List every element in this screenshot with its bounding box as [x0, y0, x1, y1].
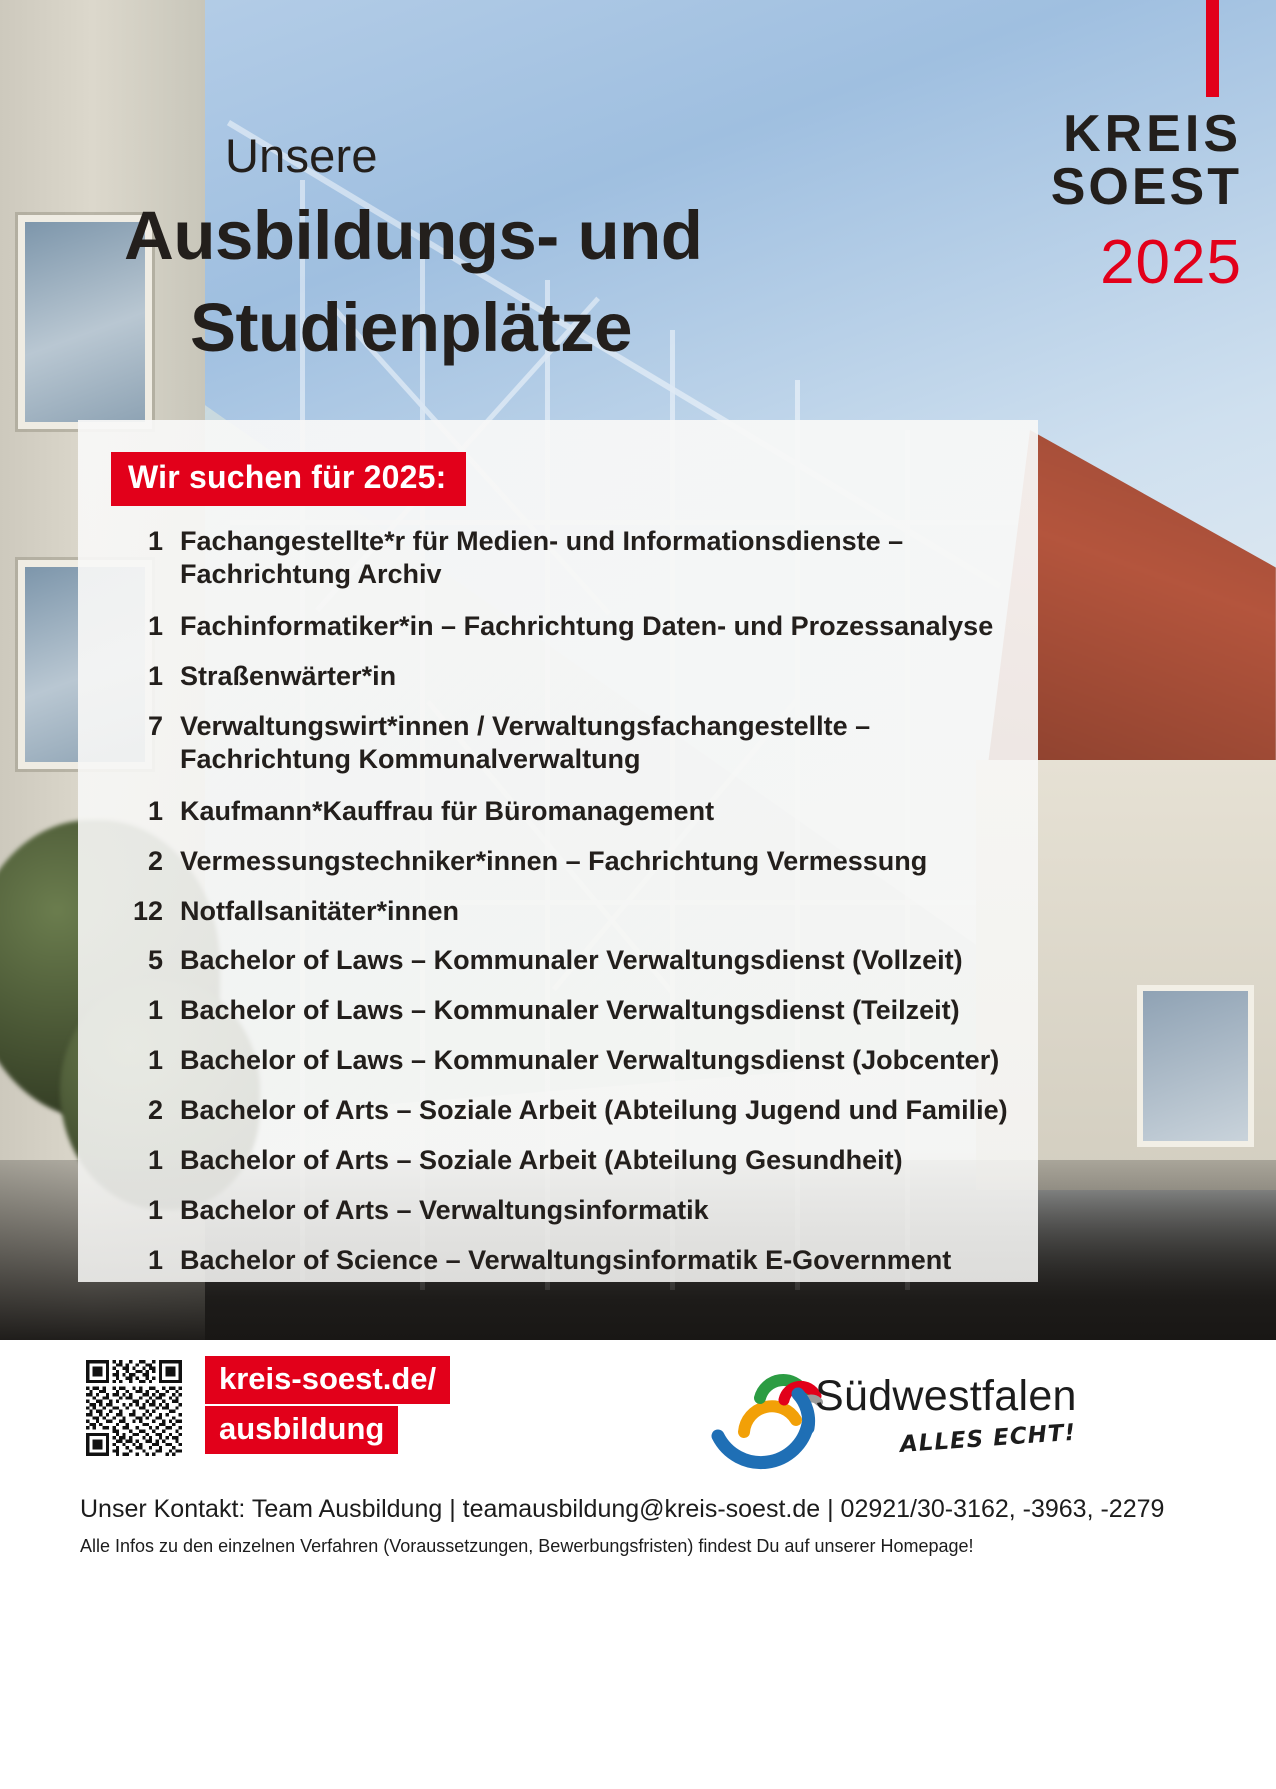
vacancy-title: Fachangestellte*r für Medien- und Inform… [180, 525, 1014, 591]
logo-line1: KREIS [1012, 110, 1242, 160]
vacancy-count: 2 [111, 845, 180, 878]
vacancy-count: 12 [111, 895, 180, 928]
vacancy-title: Bachelor of Science – Verwaltungsinforma… [180, 1244, 951, 1277]
vacancy-title: Kaufmann*Kauffrau für Büromanagement [180, 795, 714, 828]
vacancy-count: 1 [111, 1044, 180, 1077]
vacancy-title: Bachelor of Laws – Kommunaler Verwaltung… [180, 944, 963, 977]
header-kicker: Unsere [225, 128, 378, 183]
vacancy-title: Bachelor of Arts – Soziale Arbeit (Abtei… [180, 1094, 1008, 1127]
vacancy-title: Bachelor of Arts – Soziale Arbeit (Abtei… [180, 1144, 903, 1177]
page-title-line1: Ausbildungs- und [124, 196, 702, 275]
list-item: 1Bachelor of Science – Verwaltungsinform… [111, 1244, 1014, 1277]
vacancy-title: Bachelor of Laws – Kommunaler Verwaltung… [180, 994, 960, 1027]
poster-footer: kreis-soest.de/ ausbildung Südwestfalen … [0, 1340, 1276, 1789]
window [1137, 985, 1254, 1147]
vacancy-title: Verwaltungswirt*innen / Verwaltungsfacha… [180, 710, 1014, 776]
list-item: 1Fachinformatiker*in – Fachrichtung Date… [111, 610, 1014, 643]
vacancy-panel: Wir suchen für 2025: 1Fachangestellte*r … [78, 420, 1038, 1282]
vacancy-title: Fachinformatiker*in – Fachrichtung Daten… [180, 610, 993, 643]
vacancy-count: 2 [111, 1094, 180, 1127]
vacancy-count: 1 [111, 1194, 180, 1227]
vacancy-count: 1 [111, 1144, 180, 1177]
vacancy-list: 1Fachangestellte*r für Medien- und Infor… [111, 525, 1014, 1294]
page-title-line2: Studienplätze [190, 288, 632, 367]
vacancy-title: Straßenwärter*in [180, 660, 396, 693]
list-item: 1Bachelor of Arts – Verwaltungsinformati… [111, 1194, 1014, 1227]
vacancy-title: Bachelor of Arts – Verwaltungsinformatik [180, 1194, 709, 1227]
list-item: 1Bachelor of Arts – Soziale Arbeit (Abte… [111, 1144, 1014, 1177]
list-item: 1Kaufmann*Kauffrau für Büromanagement [111, 795, 1014, 828]
list-item: 7Verwaltungswirt*innen / Verwaltungsfach… [111, 710, 1014, 776]
vacancy-count: 7 [111, 710, 180, 743]
vacancy-count: 1 [111, 1244, 180, 1277]
poster: Unsere Ausbildungs- und Studienplätze KR… [0, 0, 1276, 1789]
list-item: 2Bachelor of Arts – Soziale Arbeit (Abte… [111, 1094, 1014, 1127]
partner-name: Südwestfalen [815, 1372, 1077, 1421]
list-item: 1Fachangestellte*r für Medien- und Infor… [111, 525, 1014, 591]
vacancy-count: 1 [111, 795, 180, 828]
vacancy-count: 1 [111, 525, 180, 558]
vacancy-count: 5 [111, 944, 180, 977]
info-note: Alle Infos zu den einzelnen Verfahren (V… [80, 1536, 1200, 1557]
vacancy-title: Notfallsanitäter*innen [180, 895, 459, 928]
list-item: 5Bachelor of Laws – Kommunaler Verwaltun… [111, 944, 1014, 977]
status-badge: Wir suchen für 2025: [111, 452, 466, 506]
url-line-2: ausbildung [205, 1406, 398, 1454]
contact-line: Unser Kontakt: Team Ausbildung | teamaus… [80, 1495, 1200, 1524]
list-item: 1Bachelor of Laws – Kommunaler Verwaltun… [111, 1044, 1014, 1077]
qr-code-icon[interactable] [86, 1360, 182, 1456]
url-line-1: kreis-soest.de/ [205, 1356, 450, 1404]
website-url-badge[interactable]: kreis-soest.de/ ausbildung [205, 1356, 450, 1454]
logo-year: 2025 [1012, 229, 1242, 297]
kreis-soest-logo: KREIS SOEST 2025 [1012, 0, 1242, 297]
list-item: 12Notfallsanitäter*innen [111, 895, 1014, 928]
vacancy-count: 1 [111, 994, 180, 1027]
list-item: 2Vermessungstechniker*innen – Fachrichtu… [111, 845, 1014, 878]
list-item: 1Straßenwärter*in [111, 660, 1014, 693]
vacancy-title: Bachelor of Laws – Kommunaler Verwaltung… [180, 1044, 999, 1077]
vacancy-count: 1 [111, 660, 180, 693]
vacancy-count: 1 [111, 610, 180, 643]
logo-line2: SOEST [1012, 160, 1242, 215]
vacancy-title: Vermessungstechniker*innen – Fachrichtun… [180, 845, 927, 878]
list-item: 1Bachelor of Laws – Kommunaler Verwaltun… [111, 994, 1014, 1027]
